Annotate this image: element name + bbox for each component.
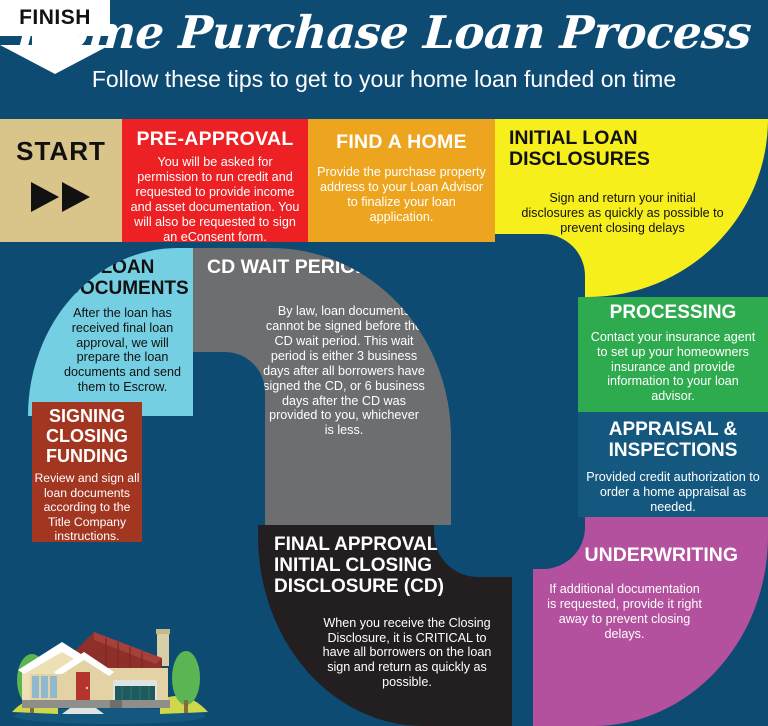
step-loan-documents-title: LOAN DOCUMENTS (28, 258, 193, 300)
step-signing-closing-funding-title: SIGNING CLOSING FUNDING (32, 407, 142, 466)
step-find-a-home-title: FIND A HOME (308, 132, 495, 153)
step-initial-loan-disclosures-title: INITIAL LOAN DISCLOSURES (509, 128, 768, 171)
step-pre-approval[interactable]: PRE-APPROVAL You will be asked for permi… (122, 119, 308, 242)
step-underwriting-body: If additional documentation is requested… (533, 582, 768, 641)
house-with-trees-illustration (10, 612, 210, 726)
step-appraisal-inspections-body: Provided credit authorization to order a… (578, 470, 768, 515)
step-processing[interactable]: PROCESSING Contact your insurance agent … (578, 297, 768, 412)
step-signing-closing-funding-body: Review and sign all loan documents accor… (32, 471, 142, 542)
step-pre-approval-title: PRE-APPROVAL (122, 129, 308, 150)
step-cd-wait-period-title: CD WAIT PERIOD (207, 257, 451, 278)
step-finish-title: FINISH (0, 6, 110, 29)
step-pre-approval-body: You will be asked for permission to run … (122, 155, 308, 242)
step-appraisal-inspections-title: APPRAISAL & INSPECTIONS (578, 420, 768, 462)
step-processing-title: PROCESSING (578, 303, 768, 324)
step-processing-body: Contact your insurance agent to set up y… (578, 330, 768, 404)
step-initial-loan-disclosures-body: Sign and return your initial disclosures… (495, 191, 768, 236)
cd-wait-period-inner-corner (193, 352, 265, 525)
step-find-a-home[interactable]: FIND A HOME Provide the purchase propert… (308, 119, 495, 242)
step-signing-closing-funding[interactable]: SIGNING CLOSING FUNDING Review and sign … (32, 402, 142, 542)
down-arrow-icon (0, 33, 128, 75)
step-loan-documents[interactable]: LOAN DOCUMENTS After the loan has receiv… (28, 248, 193, 416)
finish-label-box: FINISH (0, 0, 110, 36)
step-appraisal-inspections[interactable]: APPRAISAL & INSPECTIONS Provided credit … (578, 412, 768, 517)
step-find-a-home-body: Provide the purchase property address to… (308, 165, 495, 224)
step-finish[interactable]: FINISH (0, 0, 110, 72)
double-right-triangle-arrow-icon (0, 180, 122, 219)
step-start-title: START (0, 137, 122, 166)
step-loan-documents-body: After the loan has received final loan a… (28, 306, 193, 395)
step-final-approval-body: When you receive the Closing Disclosure,… (258, 616, 512, 690)
infographic-canvas: Home Purchase Loan Process Follow these … (0, 0, 768, 726)
step-start[interactable]: START (0, 119, 122, 242)
